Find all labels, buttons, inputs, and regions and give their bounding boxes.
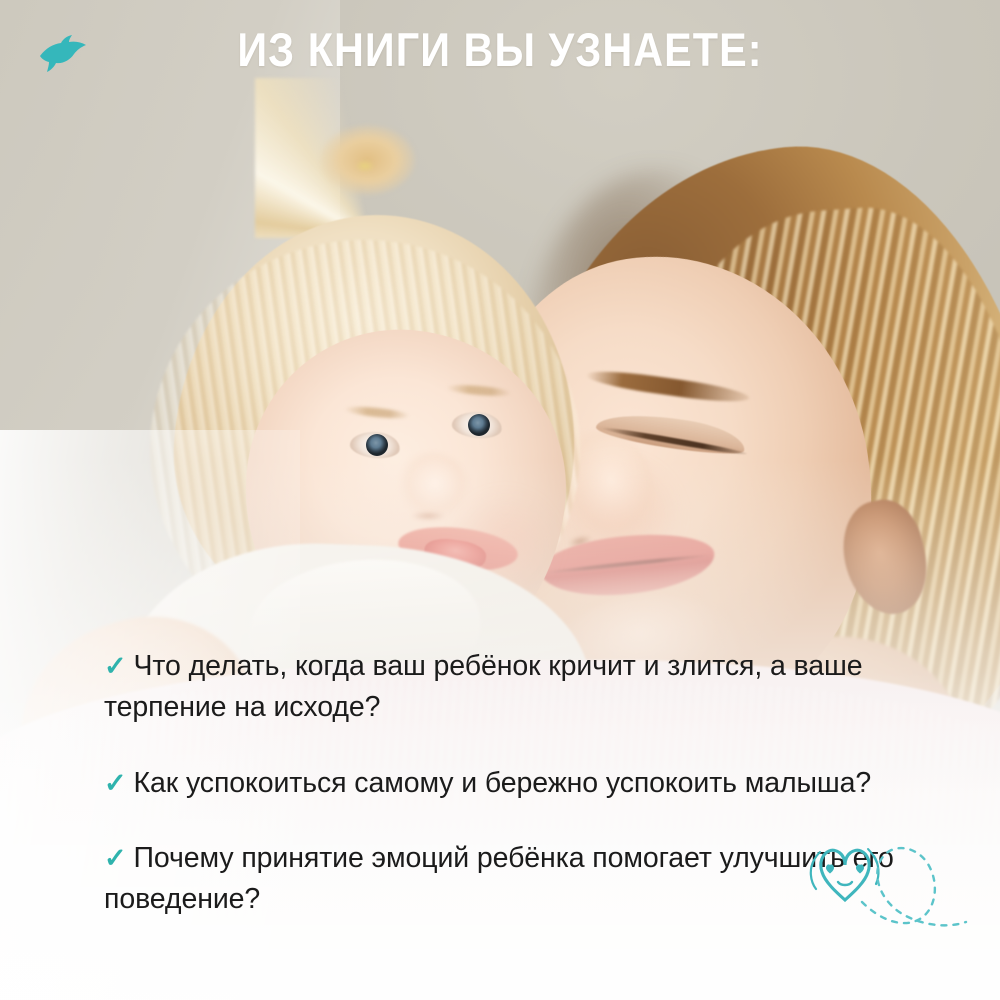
checkmark-icon: ✓ xyxy=(104,651,127,681)
list-item: ✓Почему принятие эмоций ребёнка помогает… xyxy=(104,838,904,921)
child-hair-tie xyxy=(352,158,378,174)
list-item-text: Как успокоиться самому и бережно успокои… xyxy=(134,767,872,799)
smiling-heart-icon xyxy=(811,849,879,900)
slide-canvas: ИЗ КНИГИ ВЫ УЗНАЕТЕ: ✓Что делать, когда … xyxy=(0,0,1000,1000)
checkmark-icon: ✓ xyxy=(104,768,127,798)
checkmark-icon: ✓ xyxy=(104,843,127,873)
page-title: ИЗ КНИГИ ВЫ УЗНАЕТЕ: xyxy=(60,26,940,73)
list-item: ✓Как успокоиться самому и бережно успоко… xyxy=(104,763,904,804)
list-item-text: Что делать, когда ваш ребёнок кричит и з… xyxy=(104,650,863,723)
dashed-loop-icon xyxy=(862,848,966,925)
child-iris-right xyxy=(468,414,490,436)
heart-doodle xyxy=(798,824,1000,964)
child-iris-left xyxy=(366,434,388,456)
list-item: ✓Что делать, когда ваш ребёнок кричит и … xyxy=(104,646,904,729)
list-item-text: Почему принятие эмоций ребёнка помогает … xyxy=(104,842,894,915)
benefits-list: ✓Что делать, когда ваш ребёнок кричит и … xyxy=(104,646,904,921)
